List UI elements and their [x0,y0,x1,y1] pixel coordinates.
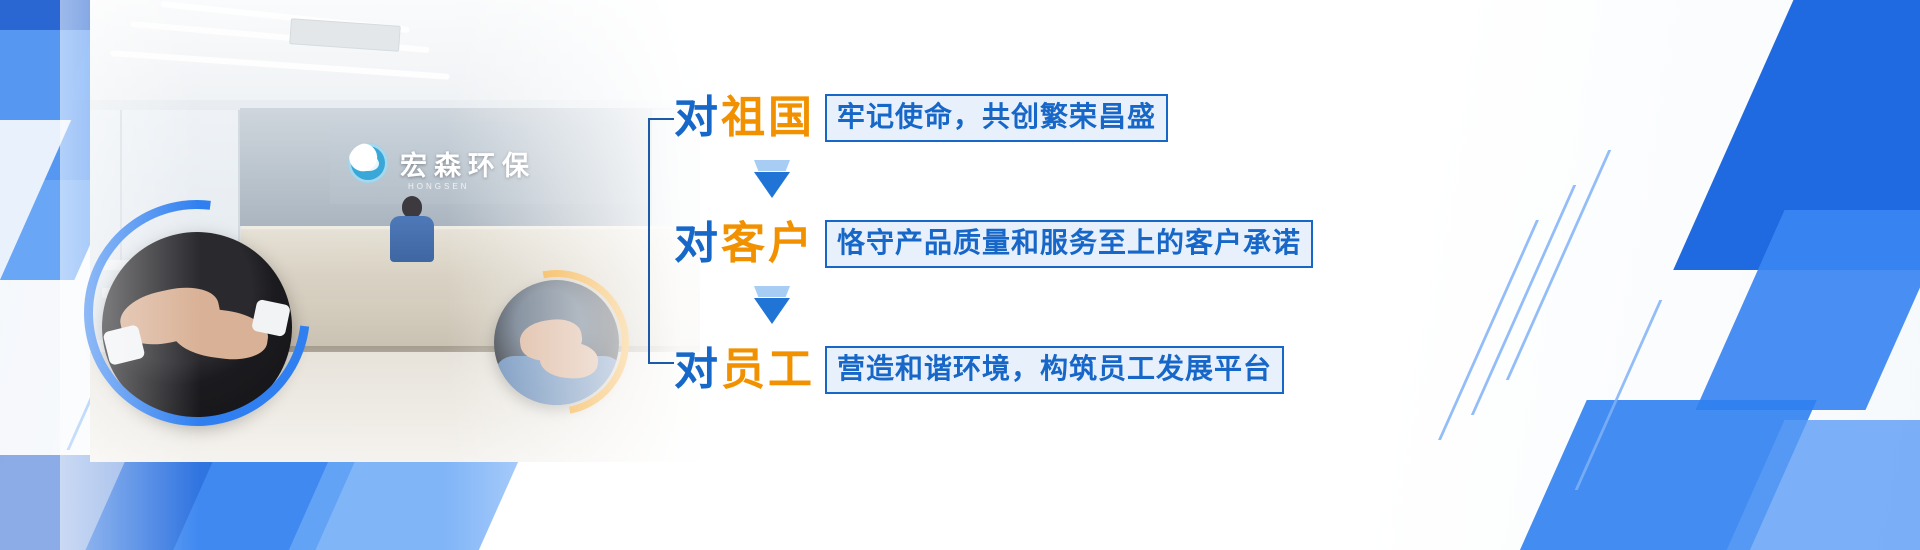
company-signboard: 宏森环保 HONGSEN [330,122,660,204]
back-wall [90,100,700,280]
blue-ring-accent [60,154,356,471]
lead-subject: 员工 [721,344,815,395]
value-tag-employee: 营造和谐环境，构筑员工发展平台 [825,346,1284,393]
shelf [102,260,188,270]
bracket-connector [648,118,674,364]
value-row-employee: 对员工 营造和谐环境，构筑员工发展平台 [674,344,1284,396]
counter-shadow [240,346,700,372]
decor-shape-bottom-right-1 [1493,400,1816,550]
decor-hairline-4 [1575,300,1663,490]
value-lead-country: 对祖国 [674,96,815,140]
clasped-hands-photo [494,280,619,405]
globe-leaf-icon [348,143,388,183]
down-arrow-icon [752,160,792,198]
lead-subject: 祖国 [721,92,815,143]
hand-shape [518,316,585,364]
shirt-cuff [251,299,291,337]
signage-wall [240,108,700,226]
shelf [102,288,188,298]
value-lead-employee: 对员工 [674,348,815,392]
lead-prefix: 对 [674,92,719,143]
value-lead-customer: 对客户 [674,222,815,266]
decor-shape-mid-right [1695,210,1920,410]
decor-shape-bottom-right-2 [1695,420,1920,550]
glass-partition [90,110,240,340]
company-name-subtitle: HONGSEN [408,182,469,191]
ceiling-light-strip [160,1,409,33]
shelf [102,316,188,326]
staff-person [390,196,434,258]
office-photo-collage: 宏森环保 HONGSEN [60,0,700,550]
value-tag-country: 牢记使命，共创繁荣昌盛 [825,94,1168,141]
reception-counter-top [239,226,700,346]
down-arrow-icon [752,286,792,324]
hand-shape [538,339,599,381]
value-row-customer: 对客户 恪守产品质量和服务至上的客户承诺 [674,218,1313,270]
staff-head [402,196,422,218]
company-values-banner: 宏森环保 HONGSEN [0,0,1920,550]
lead-subject: 客户 [721,218,815,269]
arrow-cap [754,286,790,297]
orange-ring-accent [456,242,657,443]
values-list: 对祖国 牢记使命，共创繁荣昌盛 对客户 恪守产品质量和服务至上的客户承诺 对员工… [648,78,1368,408]
hand-shape [169,304,271,365]
decor-hairline-1 [1506,150,1611,380]
decor-shape-top-right [1673,0,1920,270]
ceiling-light-strip [130,21,429,53]
ceiling-vent [289,18,401,52]
lead-prefix: 对 [674,344,719,395]
ceiling-light-strip [110,50,450,80]
floor [90,352,700,462]
staff-body [390,216,434,262]
handshake-photo [102,232,292,422]
value-tag-customer: 恪守产品质量和服务至上的客户承诺 [825,220,1313,267]
ceiling [90,0,700,120]
lead-prefix: 对 [674,218,719,269]
shirt [494,356,619,405]
arrow-triangle [754,172,790,198]
shirt-cuff [102,324,145,366]
arrow-cap [754,160,790,171]
arrow-triangle [754,298,790,324]
decor-hairline-3 [1438,220,1539,440]
decor-hairline-2 [1471,185,1576,415]
reception-room-photo: 宏森环保 HONGSEN [90,0,700,460]
company-name: 宏森环保 [400,144,536,183]
hand-shape [116,280,225,352]
reception-counter-face [240,300,700,370]
value-row-country: 对祖国 牢记使命，共创繁荣昌盛 [674,92,1168,144]
